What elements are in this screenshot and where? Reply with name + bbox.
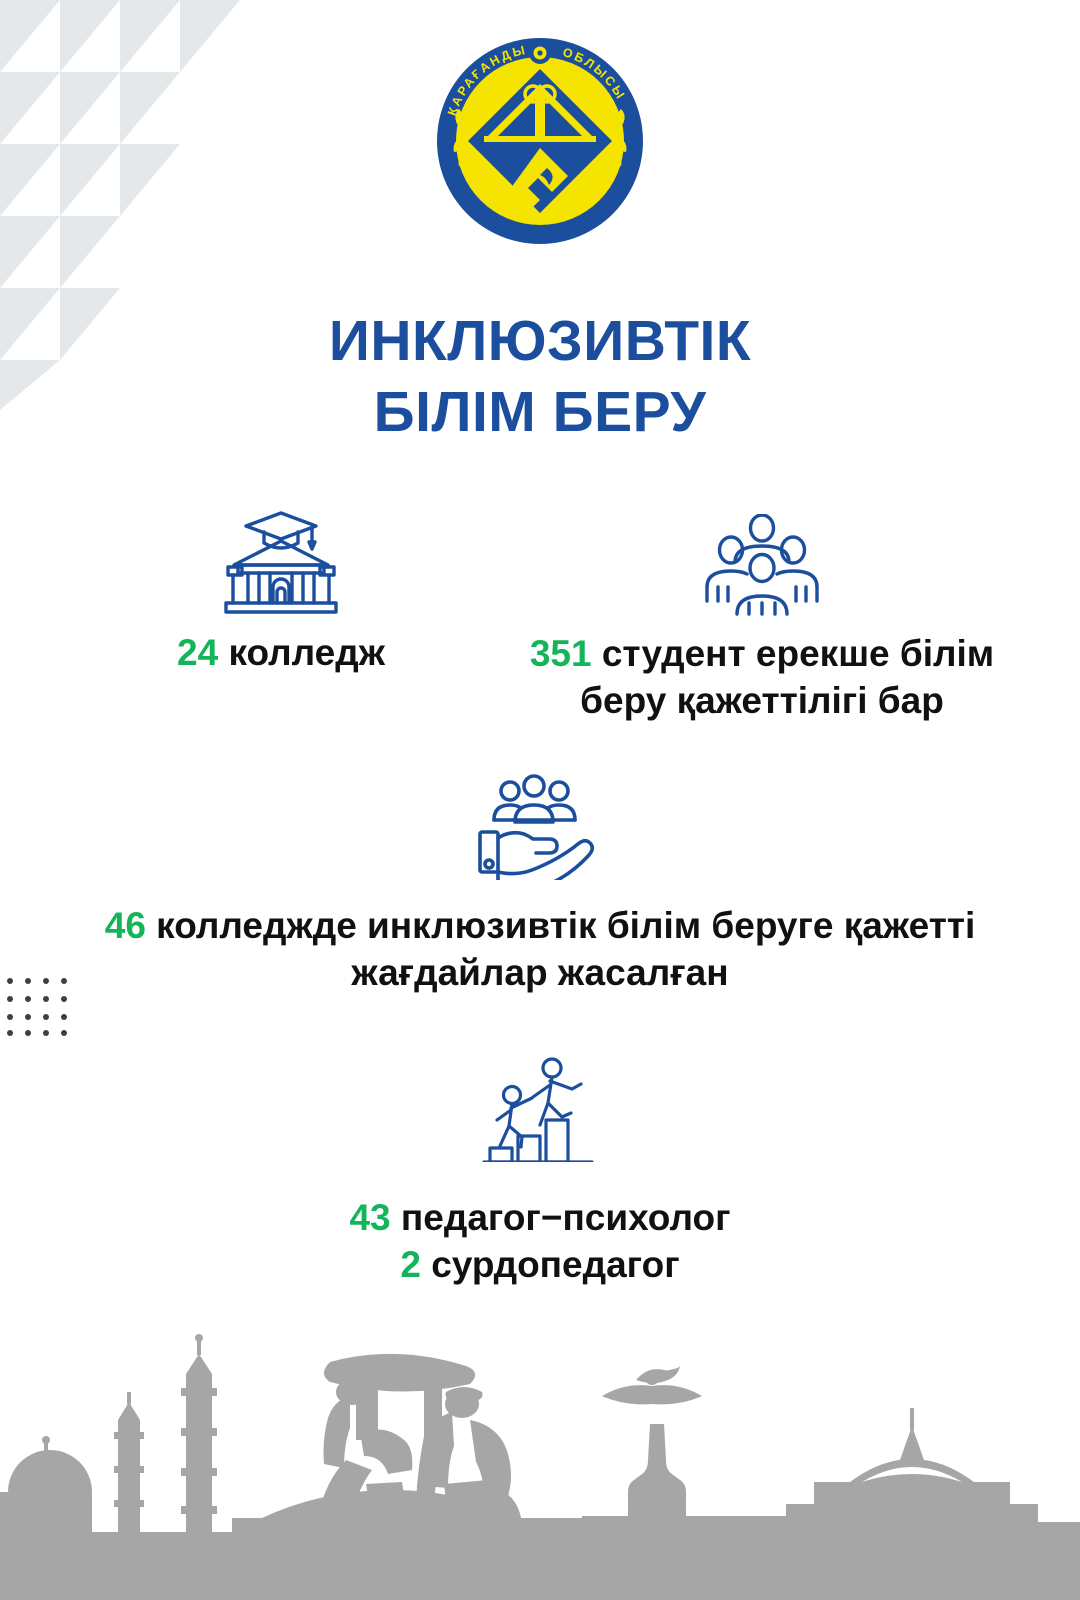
stat-text-conditions: колледжде инклюзивтік білім беруге қажет… xyxy=(146,905,975,993)
icon-slot xyxy=(96,505,466,615)
stat-caption-conditions: 46 колледжде инклюзивтік білім беруге қа… xyxy=(20,902,1060,997)
stat-text-surdo: сурдопедагог xyxy=(421,1244,680,1285)
stat-block-specialists: 43 педагог−психолог 2 сурдопедагог xyxy=(240,1052,840,1289)
stat-number-surdo: 2 xyxy=(400,1244,421,1285)
stat-text-students: студент ерекше білім беру қажеттілігі ба… xyxy=(580,633,994,721)
icon-slot xyxy=(240,1052,840,1162)
infographic-poster: ҚАРАҒАНДЫ ОБЛЫСЫ xyxy=(0,0,1080,1600)
helping-hand-growth-icon xyxy=(480,1054,600,1162)
stat-caption-students: 351 студент ерекше білім беру қажеттіліг… xyxy=(484,630,1040,725)
stat-block-students: 351 студент ерекше білім беру қажеттіліг… xyxy=(484,512,1040,725)
icon-slot xyxy=(484,512,1040,616)
stat-number-students: 351 xyxy=(530,633,592,674)
page-title: ИНКЛЮЗИВТІК БІЛІМ БЕРУ xyxy=(0,306,1080,449)
karaganda-region-coat-of-arms-icon: ҚАРАҒАНДЫ ОБЛЫСЫ xyxy=(435,36,645,246)
group-of-people-icon xyxy=(704,514,820,616)
stat-caption-colleges: 24 колледж xyxy=(96,629,466,676)
stat-block-conditions: 46 колледжде инклюзивтік білім беруге қа… xyxy=(20,768,1060,997)
icon-slot xyxy=(20,768,1060,880)
stat-number-conditions: 46 xyxy=(105,905,146,946)
stat-block-colleges: 24 колледж xyxy=(96,505,466,676)
stat-number-colleges: 24 xyxy=(177,632,218,673)
stat-text-colleges: колледж xyxy=(218,632,385,673)
stat-caption-specialists: 43 педагог−психолог 2 сурдопедагог xyxy=(240,1194,840,1289)
college-building-icon xyxy=(216,507,346,615)
title-line-1: ИНКЛЮЗИВТІК xyxy=(0,306,1080,377)
emblem-container: ҚАРАҒАНДЫ ОБЛЫСЫ xyxy=(0,36,1080,246)
karaganda-city-skyline-silhouette xyxy=(0,1300,1080,1600)
title-line-2: БІЛІМ БЕРУ xyxy=(0,377,1080,448)
hand-holding-people-icon xyxy=(470,768,610,880)
stat-number-psychologists: 43 xyxy=(349,1197,390,1238)
stat-text-psychologists: педагог−психолог xyxy=(391,1197,731,1238)
